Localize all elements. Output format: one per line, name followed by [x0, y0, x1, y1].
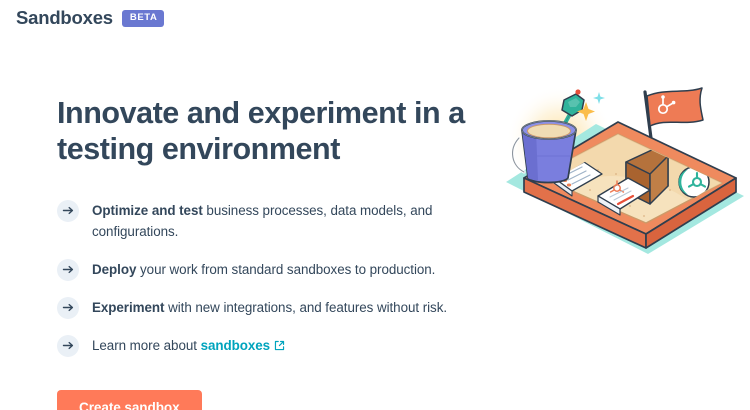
- arrow-right-icon: [57, 259, 79, 281]
- feature-item-deploy: Deploy your work from standard sandboxes…: [57, 259, 497, 281]
- hero-headline: Innovate and experiment in a testing env…: [57, 95, 477, 168]
- hero-content: Innovate and experiment in a testing env…: [57, 95, 497, 410]
- feature-rest: your work from standard sandboxes to pro…: [136, 262, 435, 277]
- feature-rest: with new integrations, and features with…: [164, 300, 447, 315]
- external-link-icon[interactable]: [274, 336, 285, 358]
- arrow-right-icon: [57, 335, 79, 357]
- cta-container: Create sandbox: [57, 390, 497, 410]
- feature-item-optimize: Optimize and test business processes, da…: [57, 200, 497, 243]
- feature-text: Learn more about sandboxes: [92, 335, 285, 358]
- create-sandbox-button[interactable]: Create sandbox: [57, 390, 202, 410]
- feature-text: Optimize and test business processes, da…: [92, 200, 472, 243]
- feature-lead: Optimize and test: [92, 203, 203, 218]
- feature-text: Deploy your work from standard sandboxes…: [92, 259, 435, 281]
- arrow-right-icon: [57, 297, 79, 319]
- app-header: Sandboxes BETA: [0, 0, 750, 36]
- sandbox-sandpit-illustration: [498, 78, 750, 260]
- sandboxes-empty-state-page: Sandboxes BETA Innovate and experiment i…: [0, 0, 750, 410]
- sandboxes-link[interactable]: sandboxes: [201, 338, 271, 353]
- feature-text: Experiment with new integrations, and fe…: [92, 297, 447, 319]
- beta-badge: BETA: [122, 10, 165, 27]
- arrow-right-icon: [57, 200, 79, 222]
- feature-list: Optimize and test business processes, da…: [57, 200, 497, 358]
- feature-item-experiment: Experiment with new integrations, and fe…: [57, 297, 497, 319]
- feature-lead: Experiment: [92, 300, 164, 315]
- feature-item-learn-more: Learn more about sandboxes: [57, 335, 497, 358]
- page-title: Sandboxes: [16, 9, 113, 28]
- learn-more-prefix: Learn more about: [92, 338, 201, 353]
- feature-lead: Deploy: [92, 262, 136, 277]
- hubspot-flag: [647, 88, 703, 126]
